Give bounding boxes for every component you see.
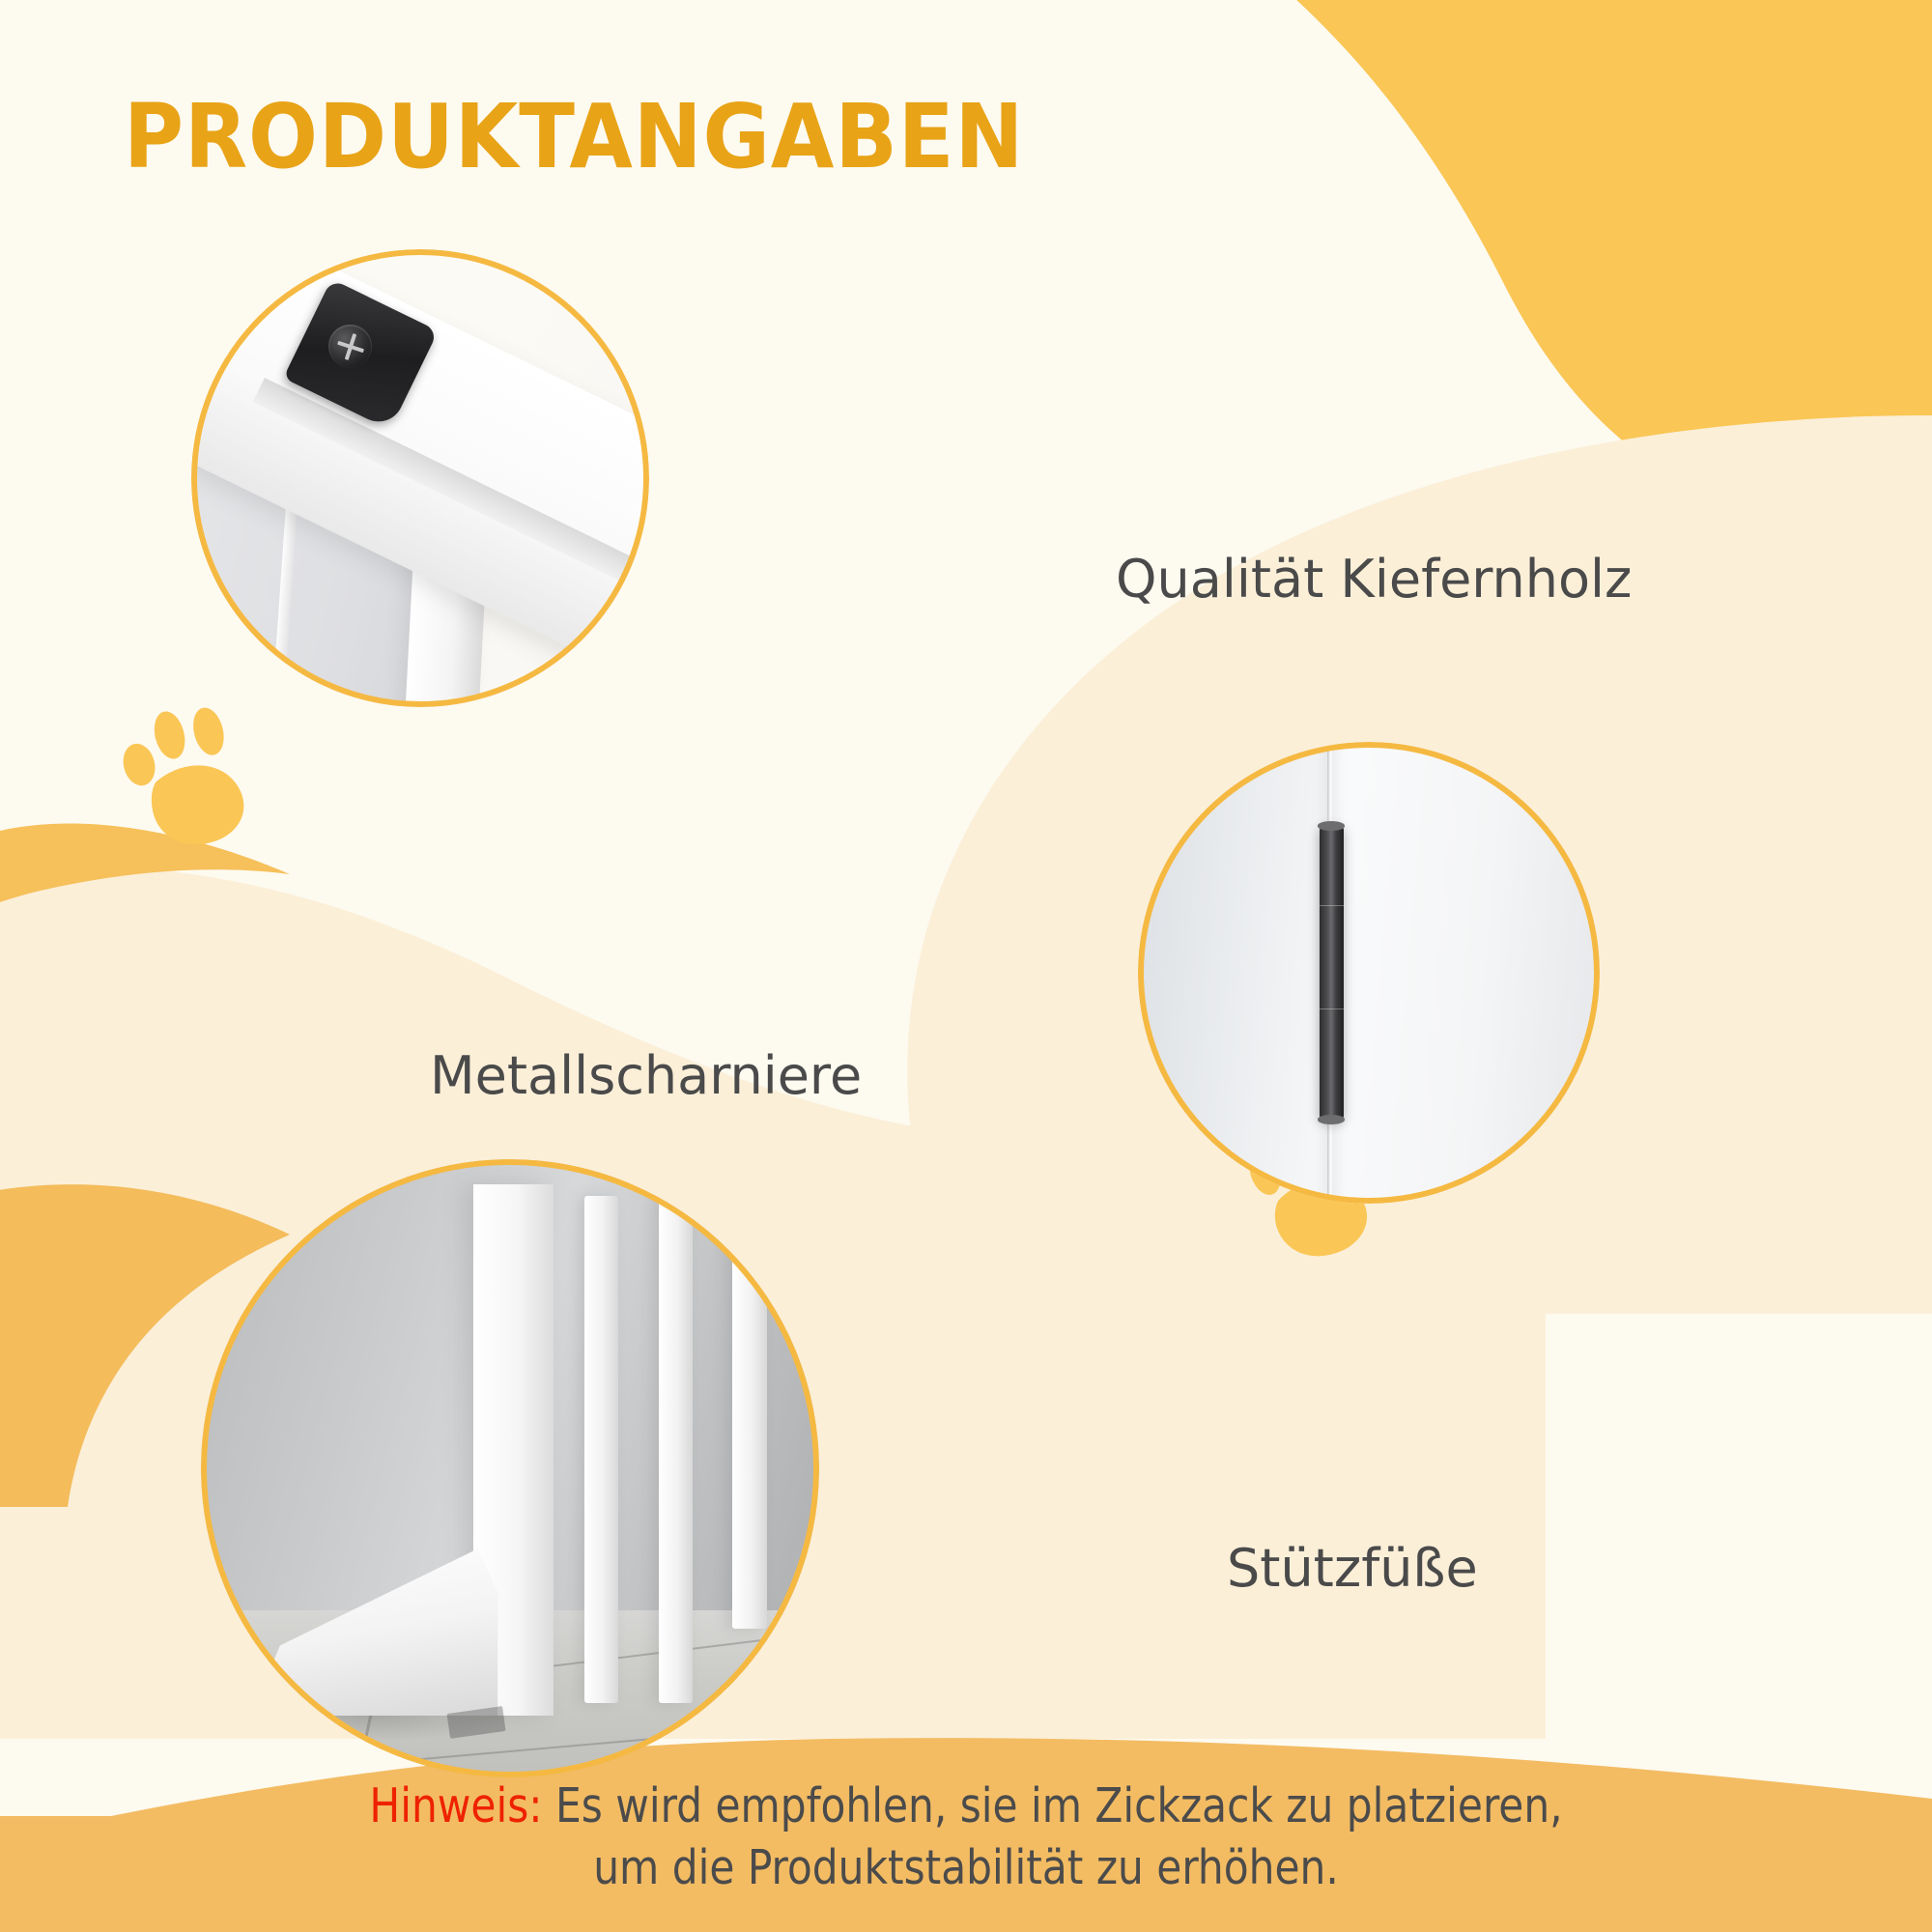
frame-corner-image: [191, 249, 649, 707]
footer-note-prefix: Hinweis:: [369, 1778, 542, 1833]
metal-hinge-image: [1138, 742, 1600, 1204]
page-title: PRODUKTANGABEN: [124, 85, 1024, 188]
feature-label-support-feet: Stützfüße: [1227, 1538, 1478, 1599]
footer-note-line-1: Hinweis: Es wird empfohlen, sie im Zickz…: [39, 1776, 1893, 1837]
footer-note-line-2: um die Produktstabilität zu erhöhen.: [39, 1837, 1893, 1899]
support-foot-image: [201, 1159, 819, 1777]
feature-label-metal-hinges: Metallscharniere: [430, 1045, 862, 1106]
feature-photo-metal-hinge: [1138, 742, 1600, 1204]
infographic-canvas: PRODUKTANGABEN: [0, 0, 1932, 1932]
hinge-icon: [1320, 825, 1344, 1121]
footer-note-line-1-text: Es wird empfohlen, sie im Zickzack zu pl…: [543, 1778, 1563, 1833]
feature-photo-support-foot: [201, 1159, 819, 1777]
feature-photo-frame-corner: [191, 249, 649, 707]
footer-note: Hinweis: Es wird empfohlen, sie im Zickz…: [39, 1776, 1893, 1899]
feature-label-quality-pine-wood: Qualität Kiefernholz: [1116, 549, 1632, 610]
